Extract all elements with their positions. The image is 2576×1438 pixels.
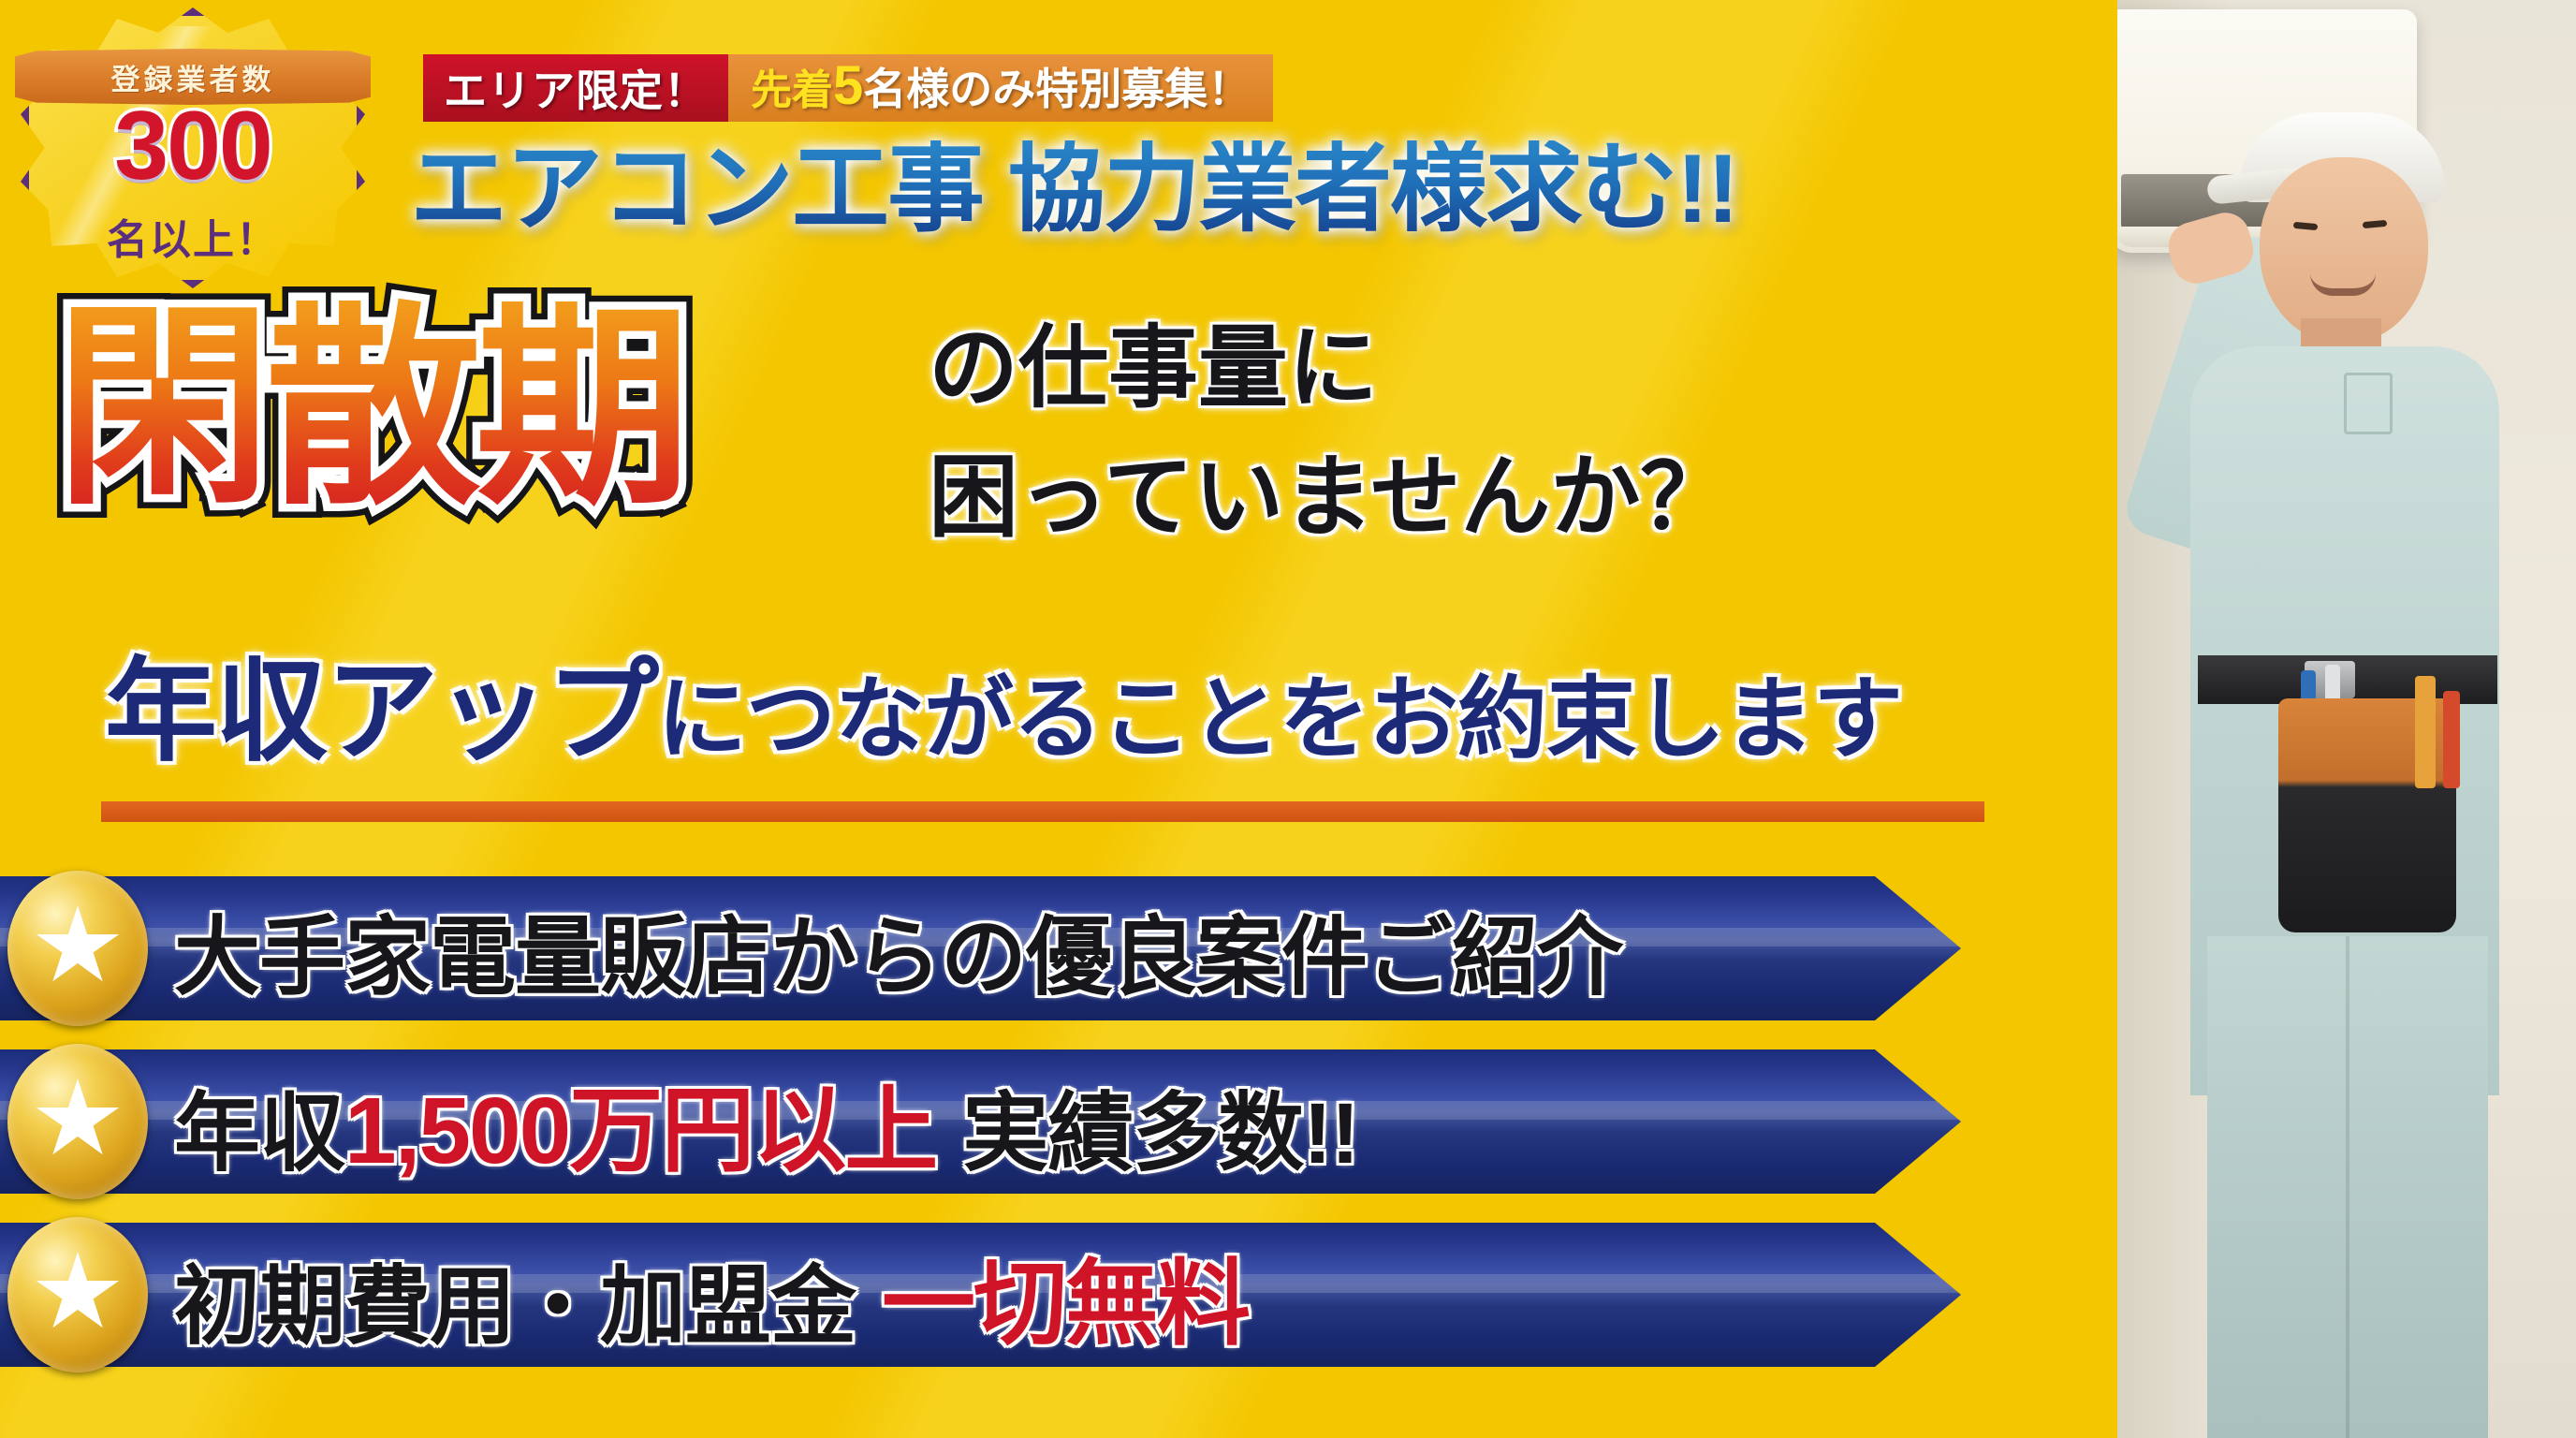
star-icon [7,1217,148,1372]
highlight-fill: 閑散期 [56,288,685,529]
first-come-count: 5 [833,54,863,117]
seal-number: 300 [21,97,365,195]
headline-black-line-2: 困っていませんか？ [929,453,1730,543]
seal-ribbon-label: 登録業者数 [111,56,275,98]
benefit-1-segment-1: 大手家電量販店からの優良案件ご紹介 [174,910,1622,1005]
list-item[interactable]: 初期費用・加盟金一切無料 [0,1217,1984,1390]
promise-emphasis: 年収アップ [105,649,657,774]
benefit-3-segment-2: 一切無料 [882,1252,1249,1357]
benefit-text-2: 年収1,500万円以上実績多数!! [174,1084,1359,1178]
area-limited-badge: エリア限定！ [423,54,728,122]
headline-blue: エアコン工事 協力業者様求む!! [410,140,1737,238]
seal-ribbon: 登録業者数 [15,49,371,105]
area-limited-label: エリア限定！ [444,57,708,119]
star-icon [7,1044,148,1199]
person-chest-pocket [2344,373,2393,434]
first-come-suffix: 名様のみ特別募集！ [863,55,1251,117]
headline-black-line-1: の仕事量に [929,324,1378,414]
promotional-banner: 300 名以上！ 登録業者数 エリア限定！ 先着 5 名様のみ特別募集！ エアコ… [0,0,2576,1438]
star-icon [7,871,148,1026]
registered-contractors-seal: 300 名以上！ 登録業者数 [21,7,365,288]
benefit-3-segment-1: 初期費用・加盟金 [174,1259,856,1355]
installer-photo [2117,0,2576,1438]
benefit-list: 大手家電量販店からの優良案件ご紹介 年収1,500万円以上実績多数!! 初期費用… [0,871,1984,1390]
top-callout-strip: エリア限定！ 先着 5 名様のみ特別募集！ [423,54,1273,122]
seal-suffix: 名以上！ [21,206,365,266]
promise-rest: につながることをお約束します [657,669,1902,770]
benefit-2-segment-2: 1,500万円以上 [344,1078,936,1183]
list-item[interactable]: 大手家電量販店からの優良案件ご紹介 [0,871,1984,1044]
tool-wrench-orange-icon [2415,676,2436,788]
benefit-text-3: 初期費用・加盟金一切無料 [174,1257,1249,1351]
benefit-2-segment-1: 年収 [174,1086,344,1181]
tool-cutter-red-icon [2443,691,2460,788]
list-item[interactable]: 年収1,500万円以上実績多数!! [0,1044,1984,1217]
first-come-prefix: 先着 [751,56,833,116]
person-face [2260,157,2428,345]
first-come-badge: 先着 5 名様のみ特別募集！ [728,54,1273,122]
person-trouser-seam [2346,936,2349,1438]
headline-highlight-word: 閑散期 閑散期 閑散期 [56,301,685,517]
promise-line: 年収アップにつながることをお約束します [105,655,1902,768]
benefit-text-1: 大手家電量販店からの優良案件ご紹介 [174,915,1622,1001]
benefit-2-segment-3: 実績多数!! [962,1086,1358,1181]
promise-underline [101,801,1984,822]
